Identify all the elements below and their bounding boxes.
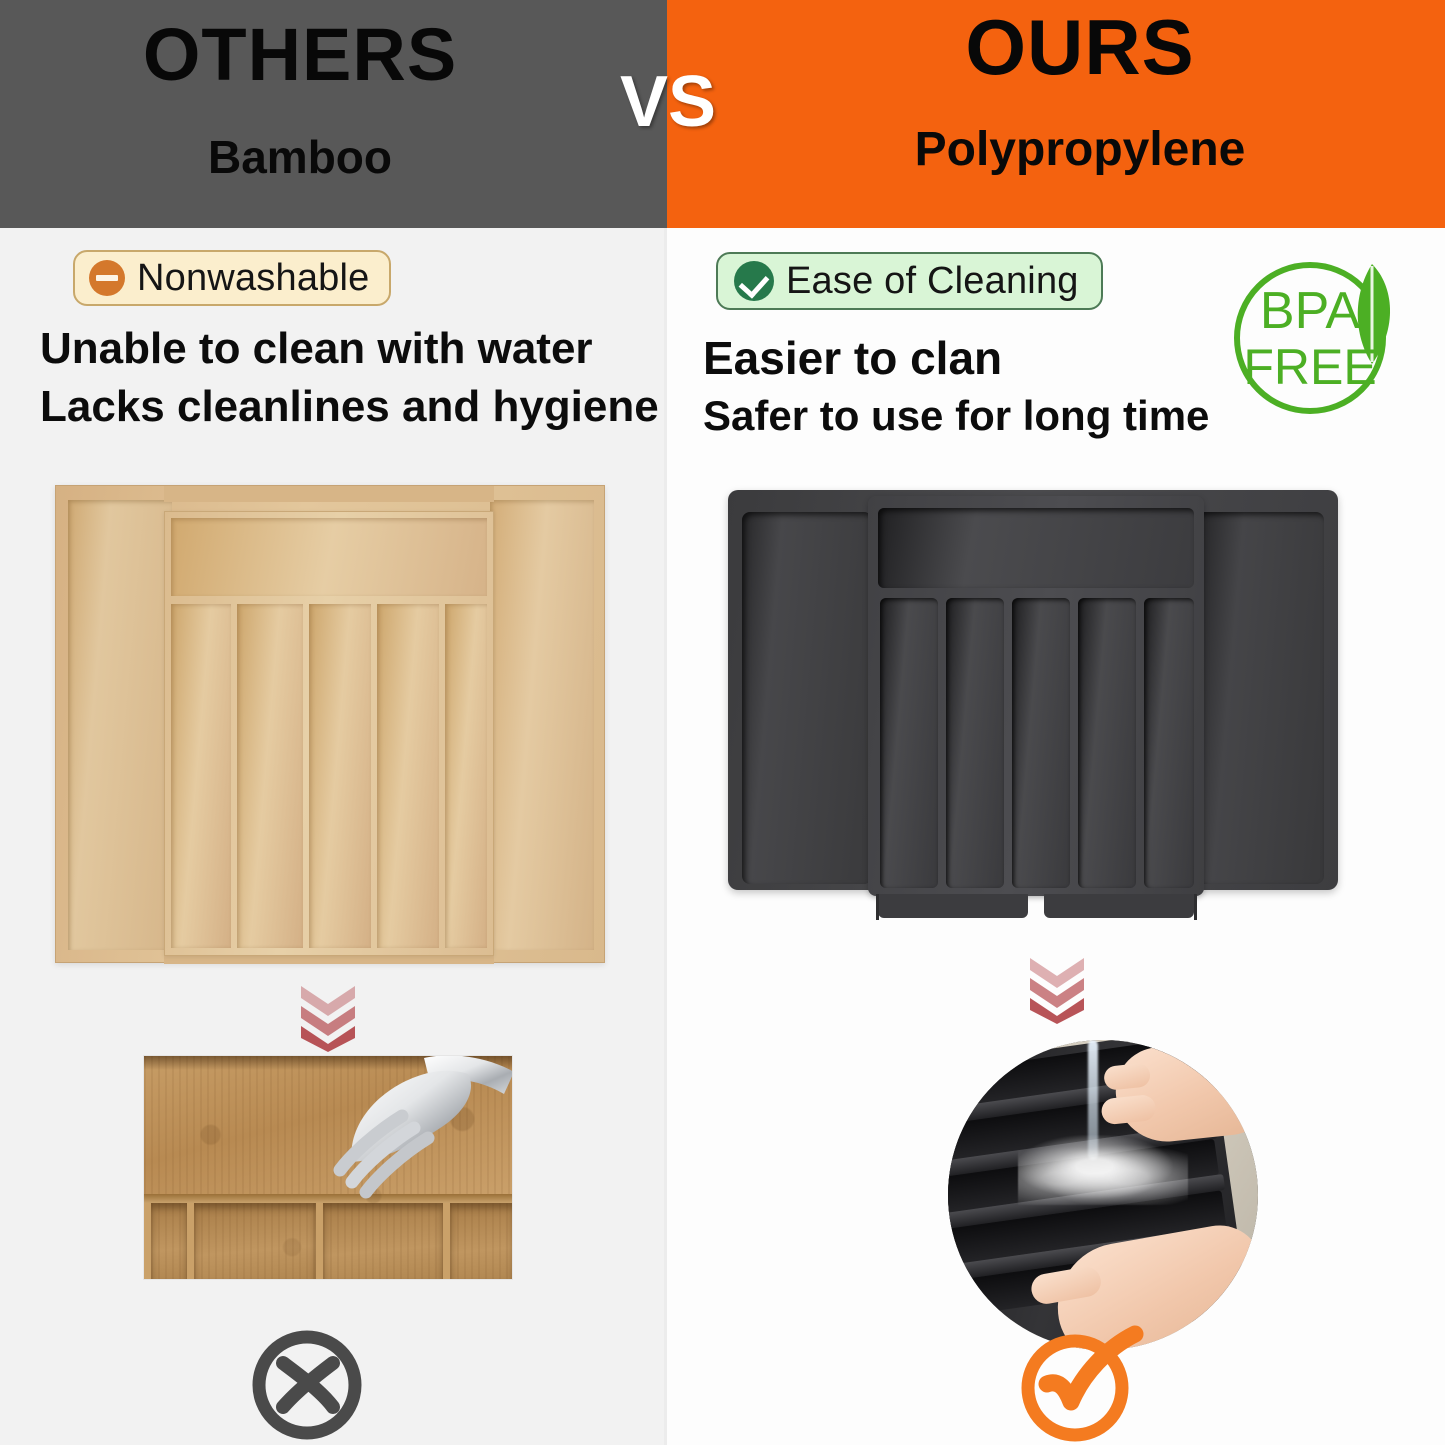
column-divider	[664, 228, 667, 1445]
wood-wall-4	[443, 1203, 450, 1280]
ours-title: OURS	[760, 8, 1400, 86]
others-material-label: Bamboo	[0, 134, 600, 180]
comparison-infographic: OTHERS Bamboo OURS Polypropylene VS Nonw…	[0, 0, 1445, 1445]
bpa-free-logo: BPA FREE	[1222, 256, 1422, 421]
bamboo-tray-image	[55, 485, 605, 963]
bamboo-slot-2	[237, 604, 303, 948]
bamboo-slot-1	[171, 604, 231, 948]
wood-wall-3	[316, 1203, 323, 1280]
wood-cell-4	[450, 1203, 513, 1280]
washing-tray-photo	[948, 1040, 1258, 1350]
bamboo-tray-frame	[55, 485, 605, 963]
black-slot-3	[1012, 598, 1070, 888]
bamboo-right-compartment	[490, 500, 594, 950]
black-tray-foot-right	[1044, 894, 1194, 918]
bamboo-left-compartment	[68, 500, 172, 950]
wood-wall-1	[144, 1203, 151, 1280]
black-tray-image	[728, 482, 1338, 920]
black-tray-base	[728, 490, 1338, 890]
fork-icon	[290, 1055, 513, 1205]
nonwashable-badge-label: Nonwashable	[137, 257, 369, 300]
vs-label: VS	[620, 66, 716, 138]
water-splash	[1018, 1135, 1188, 1205]
ours-feature-line-1: Easier to clan	[703, 334, 1002, 384]
others-feature-line-2: Lacks cleanlines and hygiene	[40, 383, 659, 431]
header-banner: OTHERS Bamboo OURS Polypropylene VS	[0, 0, 1445, 228]
left-down-arrow	[293, 980, 363, 1052]
black-slot-4	[1078, 598, 1136, 888]
black-slot-2	[946, 598, 1004, 888]
black-tray-foot-left	[878, 894, 1028, 918]
bpa-line-1: BPA	[1260, 282, 1361, 340]
wood-cell-1	[151, 1203, 187, 1280]
circle-x-icon	[247, 1325, 367, 1445]
black-tray-rail-left	[876, 894, 879, 920]
black-insert-panel	[868, 496, 1204, 896]
others-title: OTHERS	[0, 18, 600, 92]
dirty-wooden-tray-photo	[143, 1055, 513, 1280]
check-circle-icon	[734, 261, 774, 301]
right-down-arrow	[1022, 952, 1092, 1024]
bamboo-slot-5	[445, 604, 487, 948]
wood-wall-2	[187, 1203, 194, 1280]
bamboo-slot-3	[309, 604, 371, 948]
ours-feature-line-2: Safer to use for long time	[703, 393, 1209, 438]
bamboo-insert-panel	[164, 511, 494, 956]
black-slot-1	[880, 598, 938, 888]
bamboo-top-channel	[171, 518, 487, 596]
bpa-line-2: FREE	[1243, 339, 1376, 395]
ease-of-cleaning-badge-label: Ease of Cleaning	[786, 260, 1079, 303]
circle-check-icon	[1017, 1322, 1147, 1445]
ease-of-cleaning-badge: Ease of Cleaning	[716, 252, 1103, 310]
ours-material-label: Polypropylene	[760, 126, 1400, 174]
minus-circle-icon	[89, 260, 125, 296]
bamboo-top-notch	[164, 486, 494, 502]
finger-upper-2	[1103, 1062, 1151, 1091]
black-right-compartment	[1196, 512, 1324, 884]
black-left-compartment	[742, 512, 872, 884]
wood-cell-3	[323, 1203, 443, 1280]
others-feature-line-1: Unable to clean with water	[40, 325, 593, 373]
black-tray-rail-right	[1194, 894, 1197, 920]
black-top-channel	[878, 508, 1194, 588]
black-slot-5	[1144, 598, 1194, 888]
bamboo-slot-4	[377, 604, 439, 948]
nonwashable-badge: Nonwashable	[73, 250, 391, 306]
wood-cell-2	[194, 1203, 316, 1280]
finger-upper-1	[1100, 1094, 1156, 1126]
